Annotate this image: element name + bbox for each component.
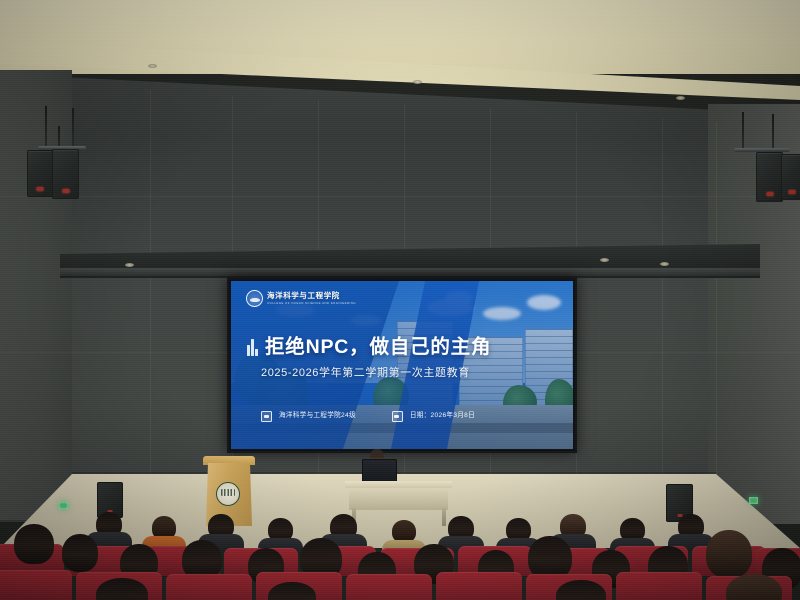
- ceiling-spot-light: [676, 96, 685, 100]
- slide-logo: 海洋科学与工程学院 COLLEGE OF OCEAN SCIENCE AND E…: [246, 290, 356, 307]
- ceiling-spot-light: [125, 263, 134, 267]
- slide-headline-row: 拒绝NPC，做自己的主角: [247, 338, 491, 358]
- auditorium-seat: [346, 574, 432, 600]
- auditorium-seat: [436, 572, 522, 600]
- presenter-table-top: [345, 481, 452, 488]
- led-screen[interactable]: 海洋科学与工程学院 COLLEGE OF OCEAN SCIENCE AND E…: [231, 281, 573, 449]
- speaker-rigging-rod: [45, 106, 47, 148]
- speaker-brand-badge: [62, 189, 69, 193]
- slide-logo-text: 海洋科学与工程学院 COLLEGE OF OCEAN SCIENCE AND E…: [267, 292, 356, 304]
- wave-logo-icon: [246, 290, 263, 307]
- wall-seam: [150, 90, 151, 510]
- speaker-brand-badge: [37, 187, 44, 191]
- auditorium-seat: [616, 572, 702, 600]
- left-wall: [0, 70, 72, 520]
- slide-date-label: 日期：2026年3月8日: [410, 413, 475, 420]
- logo-chinese-name: 海洋科学与工程学院: [267, 292, 356, 300]
- speaker-rigging-rod: [72, 108, 74, 148]
- hanging-speaker: [52, 149, 79, 199]
- audience-head: [14, 524, 54, 564]
- slide-class-label: 海洋科学与工程学院24级: [279, 413, 356, 420]
- logo-english-name: COLLEGE OF OCEAN SCIENCE AND ENGINEERING: [267, 302, 356, 305]
- auditorium-seat: [0, 570, 72, 600]
- led-screen-bezel: 海洋科学与工程学院 COLLEGE OF OCEAN SCIENCE AND E…: [227, 277, 577, 453]
- slide-meta-row: 海洋科学与工程学院24级 日期：2026年3月8日: [261, 411, 475, 422]
- speaker-rigging-rod: [772, 114, 774, 150]
- ceiling-spot-light: [148, 64, 157, 68]
- slide-content: 海洋科学与工程学院 COLLEGE OF OCEAN SCIENCE AND E…: [231, 281, 573, 449]
- auditorium-seat: [166, 574, 252, 600]
- ceiling-spot-light: [600, 258, 609, 262]
- class-group-icon: [261, 411, 272, 422]
- calendar-icon: [392, 411, 403, 422]
- hanging-speaker: [756, 152, 783, 202]
- audience-head: [62, 534, 98, 572]
- speaker-rigging-rod: [742, 112, 744, 150]
- hanging-speaker: [27, 150, 53, 197]
- speaker-brand-badge: [766, 192, 773, 196]
- hanging-speaker: [781, 154, 800, 200]
- soffit-lip: [60, 268, 760, 276]
- slide-headline: 拒绝NPC，做自己的主角: [265, 338, 491, 358]
- wall-seam: [662, 118, 663, 518]
- audience-head: [706, 530, 752, 578]
- auditorium-scene: 海洋科学与工程学院 COLLEGE OF OCEAN SCIENCE AND E…: [0, 0, 800, 600]
- wall-seam: [716, 122, 717, 522]
- wall-band: [0, 196, 800, 197]
- ceiling-spot-light: [413, 80, 422, 84]
- ceiling-spot-light: [660, 262, 669, 266]
- audience-area: [0, 500, 800, 600]
- speaker-brand-badge: [788, 190, 795, 194]
- slide-subtitle: 2025-2026学年第二学期第一次主题教育: [261, 368, 470, 379]
- bar-chart-icon: [247, 339, 258, 356]
